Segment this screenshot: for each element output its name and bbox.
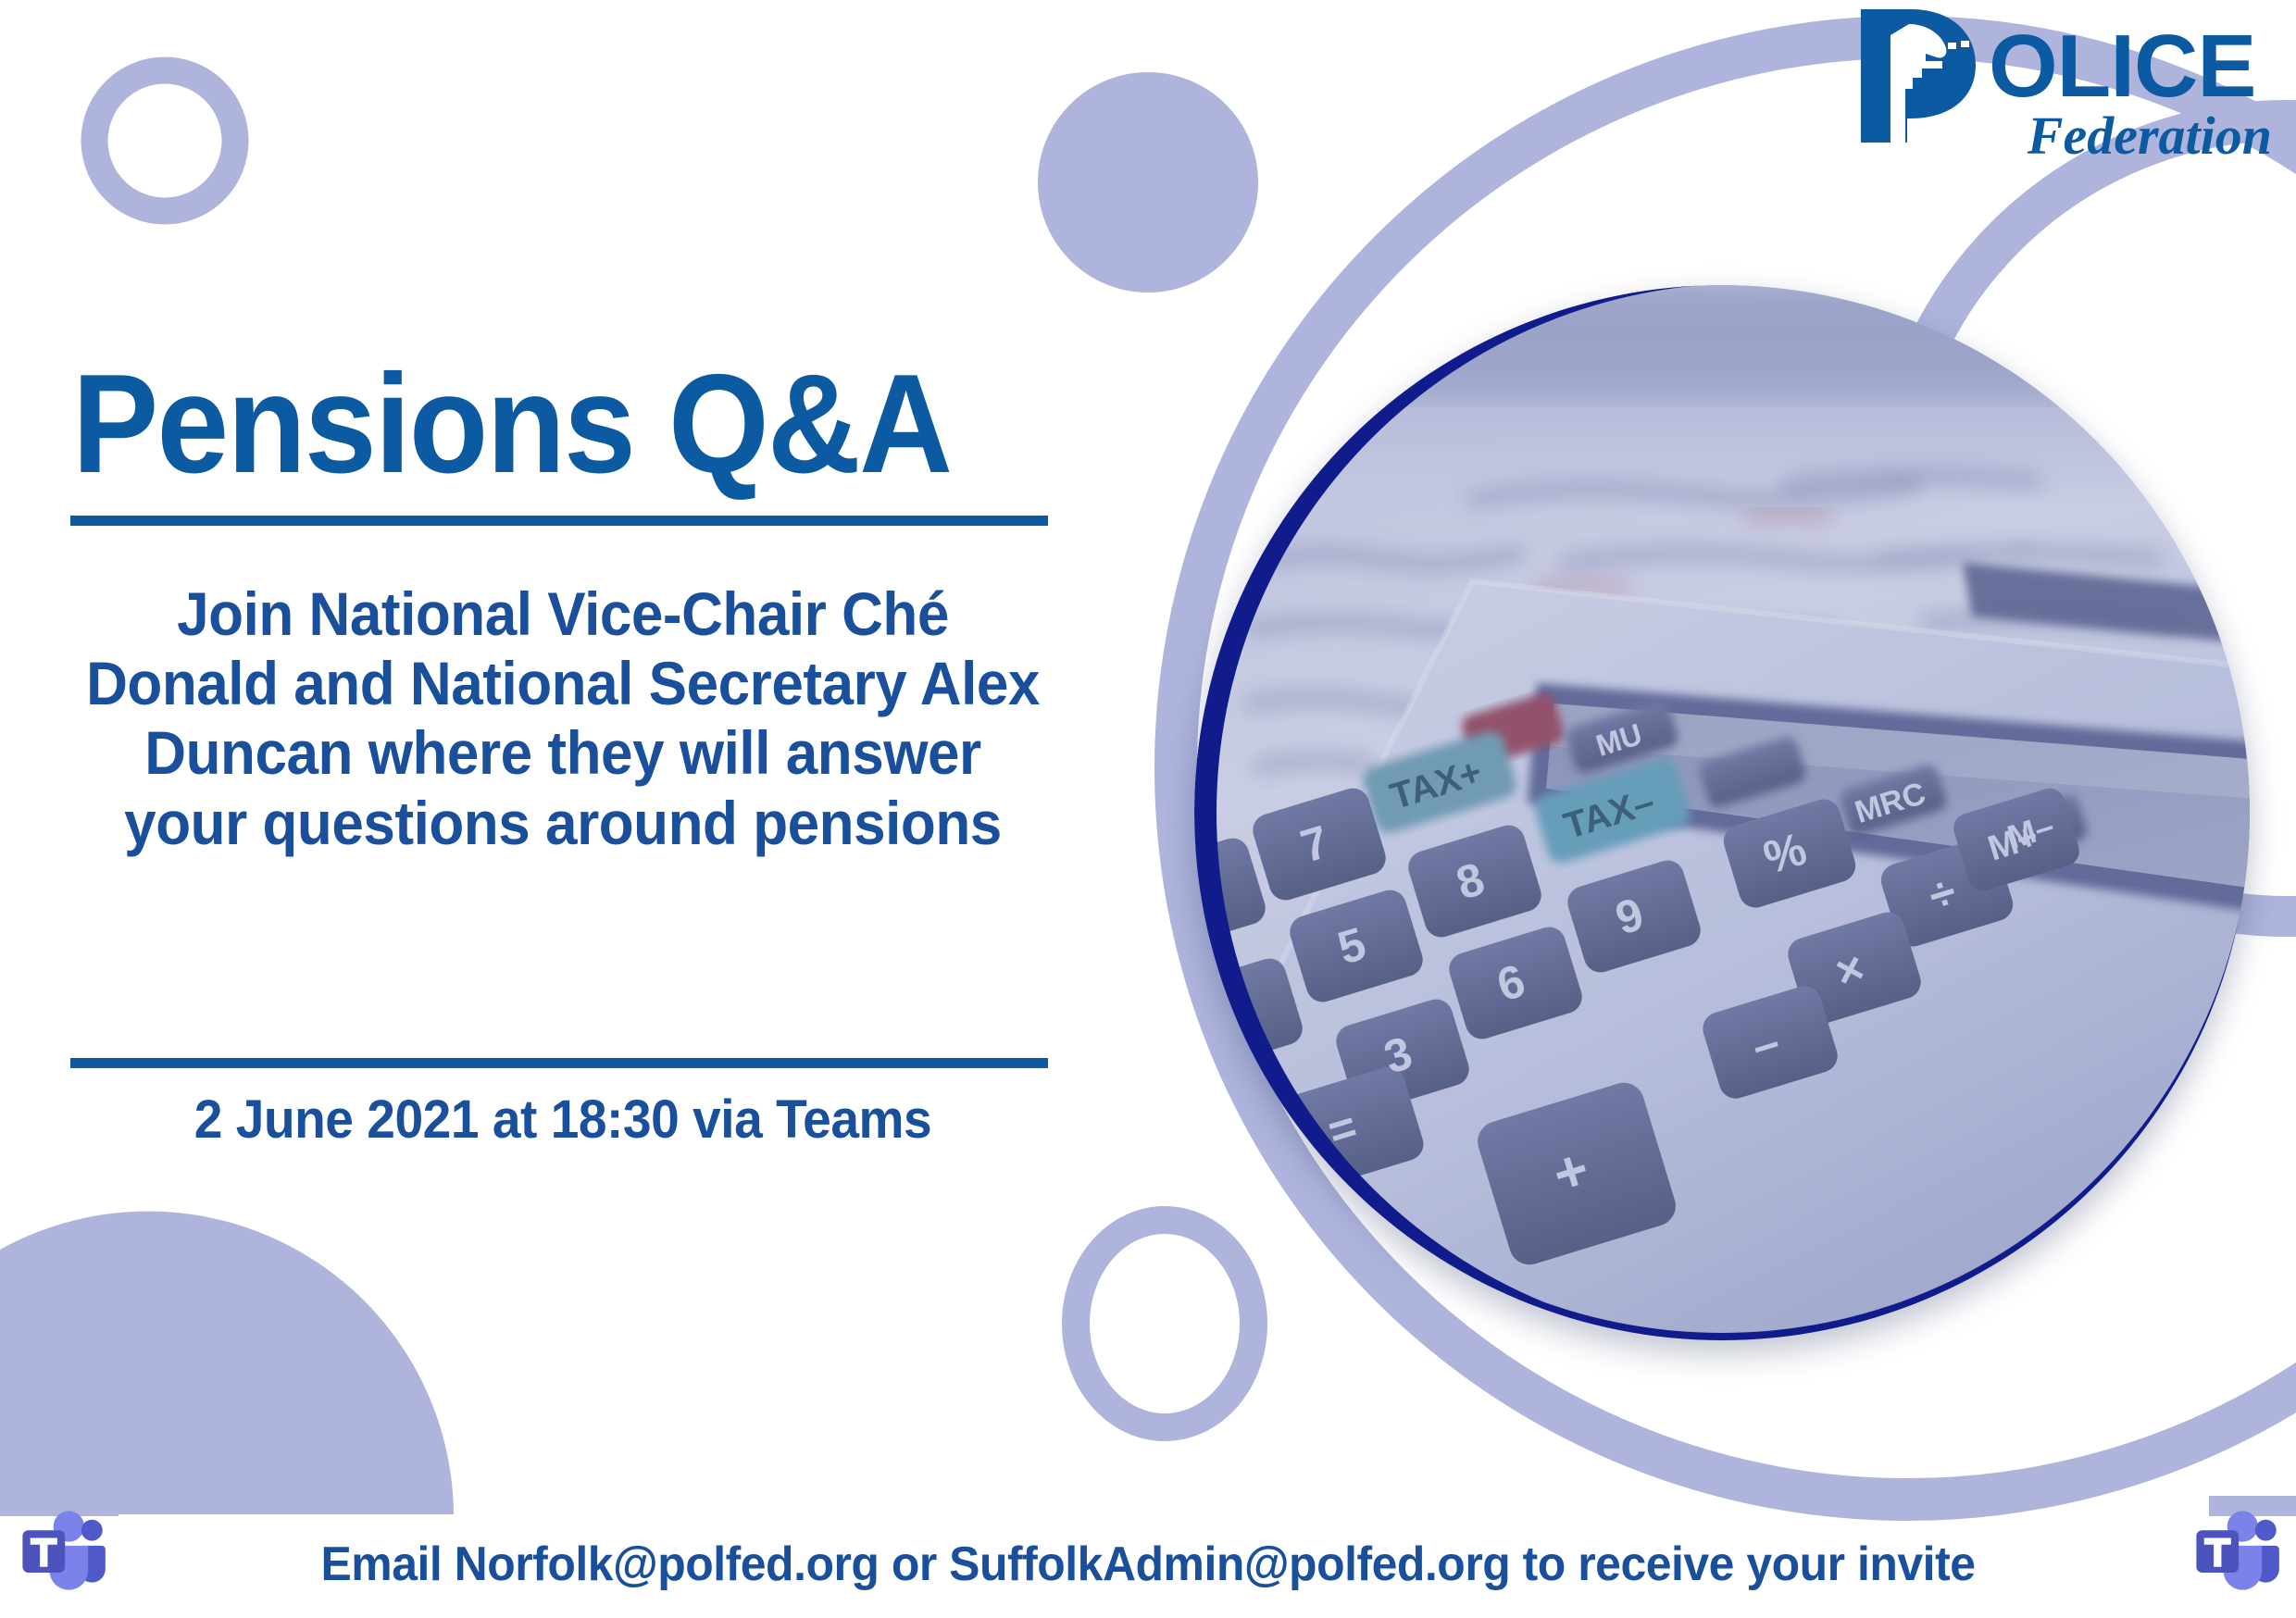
calculator-photo: 7 8 9 % ÷ 4 5 6 × 2 3 – = + M+ M– MRC — [1194, 285, 2250, 1340]
event-datetime: 2 June 2021 at 18:30 via Teams — [81, 1090, 1044, 1150]
divider-top — [70, 516, 1048, 526]
logo-subtitle: Federation — [2027, 106, 2272, 166]
page-title: Pensions Q&A — [72, 354, 1009, 494]
teams-person-small-head — [2255, 1520, 2277, 1541]
contact-footer: Email Norfolk@polfed.org or SuffolkAdmin… — [46, 1537, 2251, 1592]
microsoft-teams-icon — [2187, 1501, 2283, 1598]
logo-wordmark: OLICE — [1989, 17, 2255, 116]
divider-bottom — [70, 1058, 1048, 1068]
event-description: Join National Vice-Chair Ché Donald and … — [86, 579, 1040, 858]
poster-canvas: 7 8 9 % ÷ 4 5 6 × 2 3 – = + M+ M– MRC — [0, 0, 2296, 1618]
calculator-photo-image: 7 8 9 % ÷ 4 5 6 × 2 3 – = + M+ M– MRC — [1194, 285, 2250, 1340]
poster-content: Pensions Q&A Join National Vice-Chair Ch… — [0, 0, 1125, 1618]
logo-p-mark — [1861, 9, 1976, 143]
police-federation-logo: OLICE Federation — [1853, 4, 2279, 170]
